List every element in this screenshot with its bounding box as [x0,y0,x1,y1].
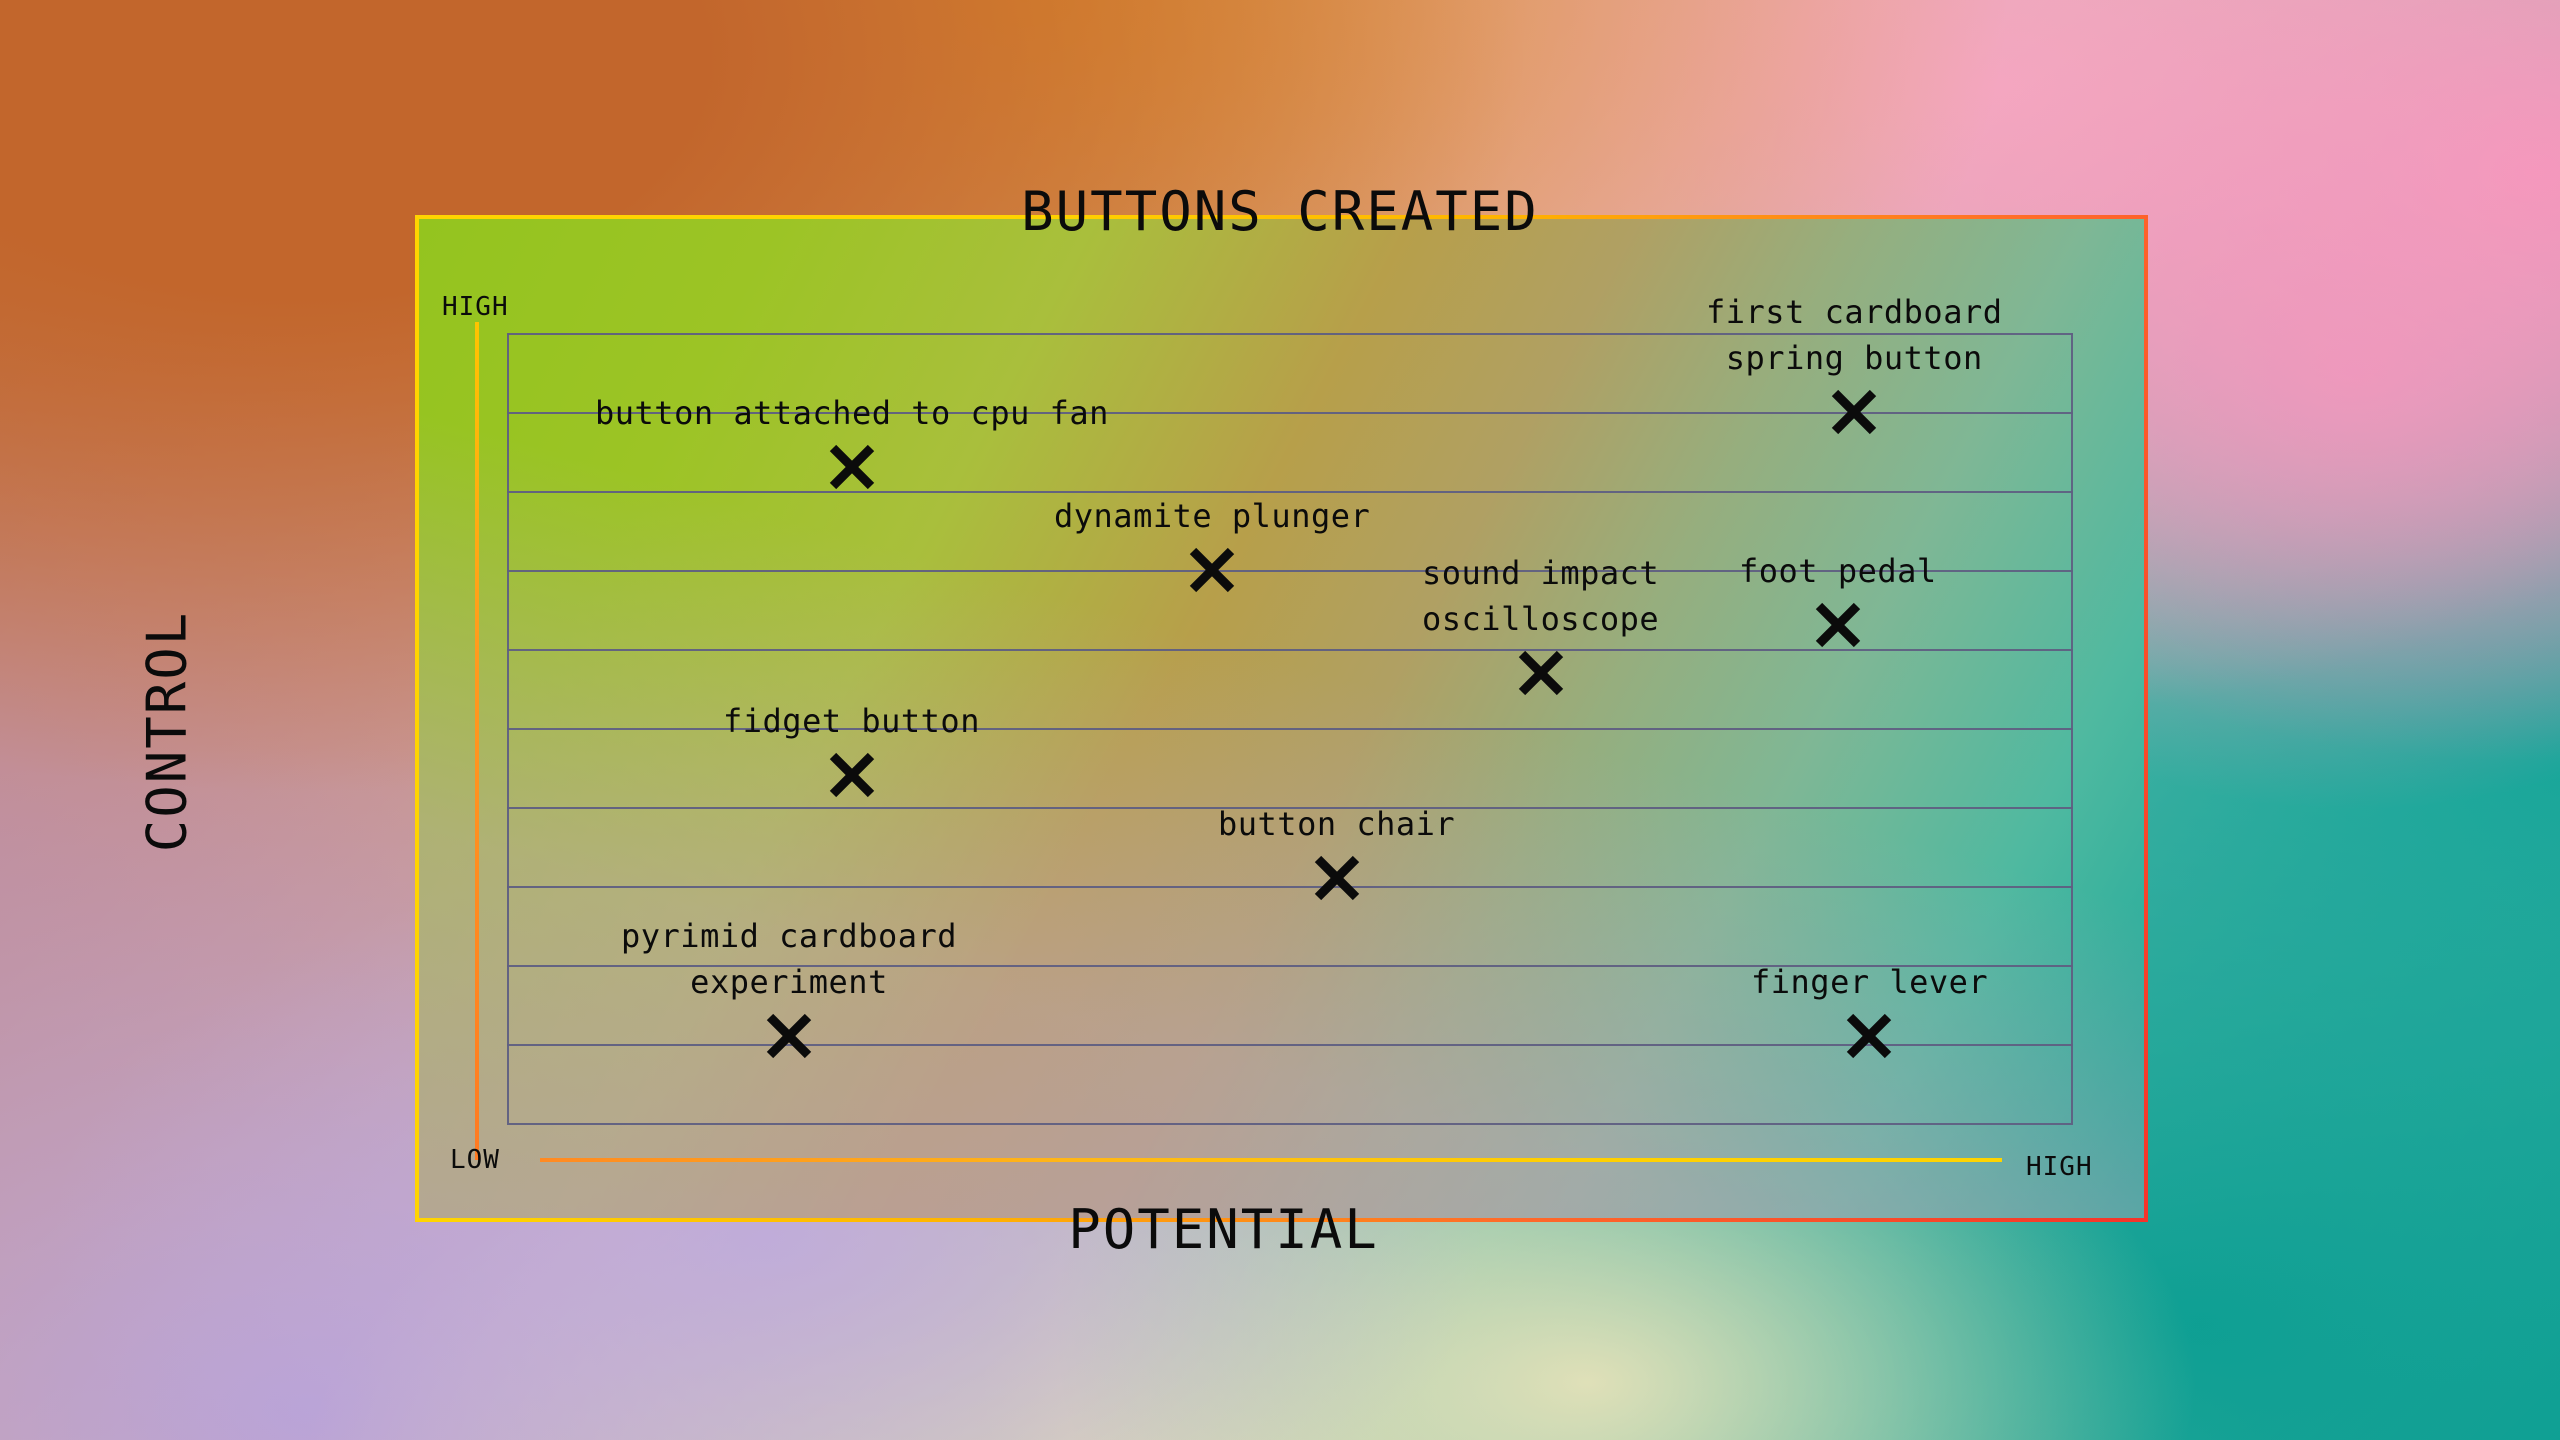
grid-edge-right [2071,333,2073,1123]
x-cross-marker[interactable] [825,748,879,802]
x-axis-line [540,1158,2002,1162]
data-point-label-line: pyrimid cardboard [621,913,957,959]
data-point-label-line: first cardboard [1706,289,2002,335]
y-axis-label: CONTROL [136,532,199,932]
grid-line [507,1044,2073,1046]
data-point-label-line: oscilloscope [1422,596,1659,642]
data-point-label: pyrimid cardboardexperiment [621,913,957,1005]
data-point-label-line: experiment [621,959,957,1005]
data-point-label-line: spring button [1706,335,2002,381]
x-cross-marker[interactable] [1827,385,1881,439]
data-point-label-line: dynamite plunger [1054,493,1370,539]
data-point-label: dynamite plunger [1054,493,1370,539]
data-point-label-line: finger lever [1751,959,1988,1005]
data-point-label: button chair [1218,801,1455,847]
x-cross-marker[interactable] [762,1009,816,1063]
grid-line [507,886,2073,888]
grid-line [507,1123,2073,1125]
data-point-label: finger lever [1751,959,1988,1005]
x-cross-marker[interactable] [1842,1009,1896,1063]
x-cross-marker[interactable] [825,440,879,494]
x-cross-marker[interactable] [1811,598,1865,652]
data-point-label: button attached to cpu fan [595,390,1109,436]
data-point-label: fidget button [723,698,980,744]
x-cross-marker[interactable] [1310,851,1364,905]
data-point-label-line: button chair [1218,801,1455,847]
data-point-label: sound impactoscilloscope [1422,550,1659,642]
chart-title: BUTTONS CREATED [0,180,2560,243]
x-axis-label: POTENTIAL [0,1198,2447,1261]
data-point-label-line: fidget button [723,698,980,744]
x-cross-marker[interactable] [1185,543,1239,597]
y-axis-line [475,322,479,1160]
data-point-label: first cardboardspring button [1706,289,2002,381]
data-point-label: foot pedal [1739,548,1937,594]
x-axis-tick-high: HIGH [2026,1152,2093,1182]
data-point-label-line: sound impact [1422,550,1659,596]
y-axis-tick-high: HIGH [442,292,509,322]
grid-edge-left [507,333,509,1123]
x-axis-tick-low: LOW [450,1145,500,1175]
x-cross-marker[interactable] [1514,646,1568,700]
data-point-label-line: button attached to cpu fan [595,390,1109,436]
data-point-label-line: foot pedal [1739,548,1937,594]
